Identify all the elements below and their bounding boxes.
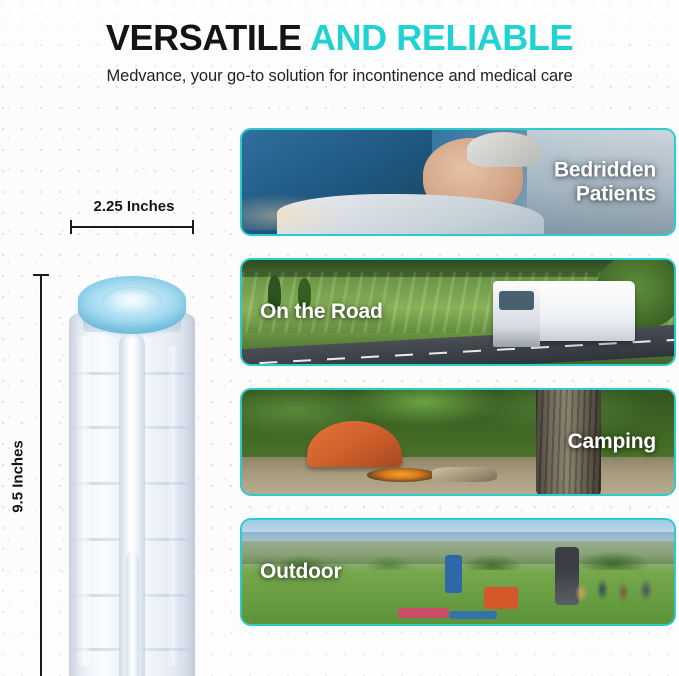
dimension-height-bar <box>40 274 42 676</box>
headline-accent-part: AND RELIABLE <box>310 17 573 58</box>
dimension-width-top-bar <box>70 226 194 228</box>
panel-on-the-road[interactable]: On the Road <box>240 258 676 366</box>
bottle-cap <box>78 276 186 334</box>
product-infographic: VERSATILE AND RELIABLE Medvance, your go… <box>0 0 679 676</box>
campfire <box>367 468 436 482</box>
lens-flare <box>240 194 346 229</box>
panel-label-camping: Camping <box>568 430 656 454</box>
panel-outdoor[interactable]: Outdoor <box>240 518 676 626</box>
panel-camping[interactable]: Camping <box>240 388 676 496</box>
panel-bedridden-patients[interactable]: Bedridden Patients <box>240 128 676 236</box>
bottle-cap-center <box>114 293 150 310</box>
bottle-highlight-right <box>167 346 179 666</box>
page-title: VERSATILE AND RELIABLE <box>0 0 679 58</box>
urinal-bottle-illustration <box>63 276 201 676</box>
header: VERSATILE AND RELIABLE Medvance, your go… <box>0 0 679 86</box>
picnic-blanket <box>449 611 497 619</box>
panel-label-on-the-road: On the Road <box>260 300 383 324</box>
product-dimension-diagram: 2.25 Inches 9.5 Inches 3 Inches <box>0 108 236 676</box>
park-crowd <box>570 572 665 607</box>
headline-dark-part: VERSATILE <box>106 17 310 58</box>
standing-person <box>445 555 462 592</box>
patient-hair <box>467 132 540 167</box>
panel-label-bedridden-patients: Bedridden Patients <box>554 158 656 205</box>
road-lane-marking <box>240 338 676 366</box>
picnic-blanket <box>398 608 450 617</box>
page-subtitle: Medvance, your go-to solution for incont… <box>0 58 679 86</box>
bottle-highlight-left <box>77 336 92 666</box>
panel-label-outdoor: Outdoor <box>260 560 341 584</box>
use-case-panels: Bedridden Patients On the Road <box>240 128 676 648</box>
dimension-width-top-label: 2.25 Inches <box>54 198 214 215</box>
truck-windshield <box>499 291 534 310</box>
folding-chair <box>484 587 519 610</box>
bottle-center-channel-lower <box>126 552 139 676</box>
dimension-height-label: 9.5 Inches <box>10 427 27 527</box>
firewood-pile <box>432 467 497 482</box>
